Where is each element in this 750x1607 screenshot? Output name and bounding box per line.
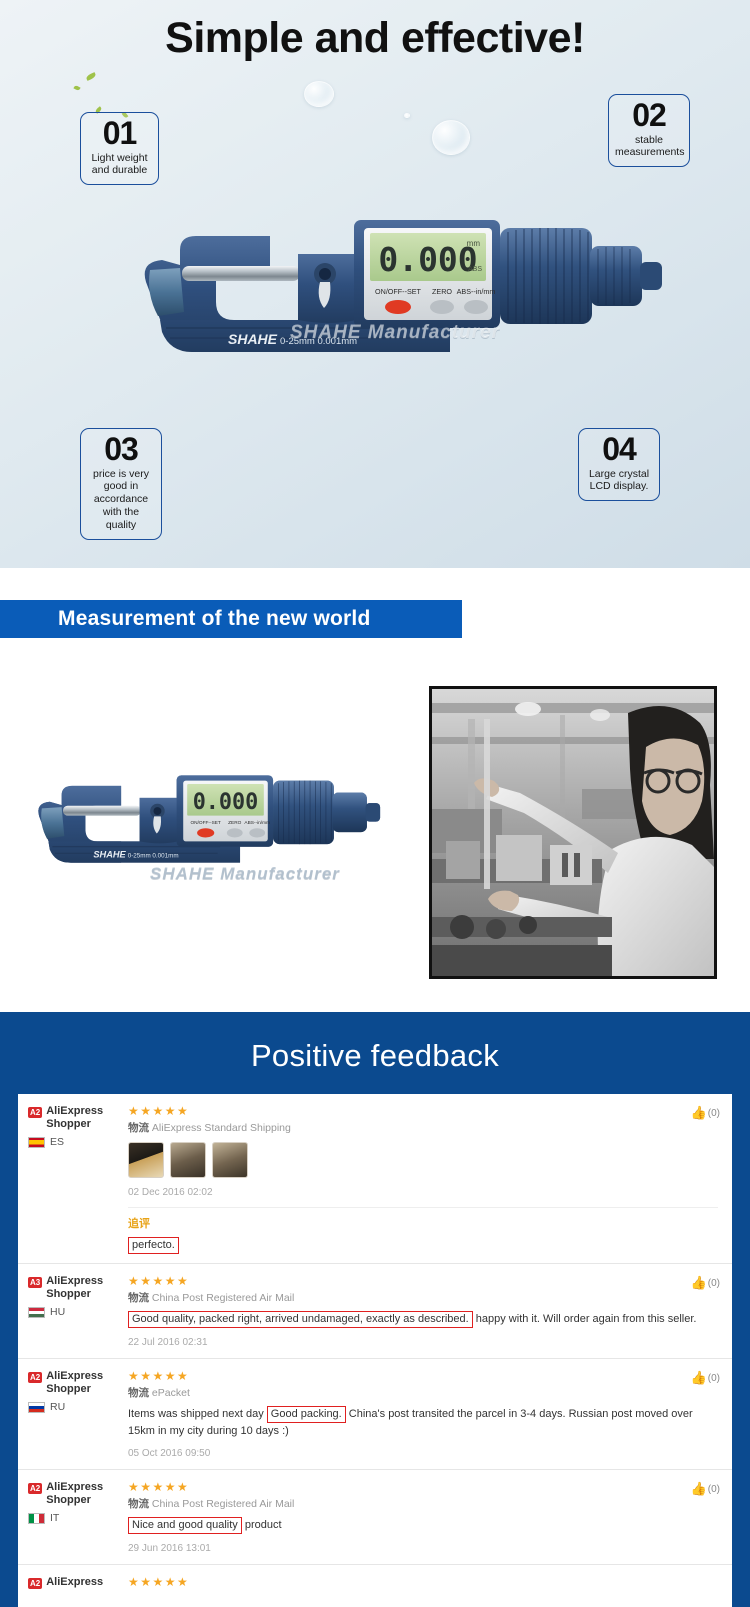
brand-label-small: SHAHE [93,849,126,859]
review-photo-thumbnail[interactable] [128,1142,164,1178]
thumbs-up-icon[interactable]: 👍 [691,1481,707,1497]
lcd-unit-label: mm [467,239,481,248]
shipping-label-cn: 物流 [128,1498,149,1510]
water-droplet-icon [304,81,334,107]
review-body: ★★★★★ 物流 AliExpress Standard Shipping 02… [124,1104,718,1254]
review-date: 05 Oct 2016 09:50 [128,1447,718,1460]
country-code: ES [50,1136,64,1148]
country-flag-icon [28,1307,45,1318]
reviewer-info: A3 AliExpress Shopper HU [28,1274,124,1349]
star-rating: ★★★★★ [128,1480,718,1494]
feature-number: 03 [87,433,155,467]
review-text: Nice and good quality product [128,1517,718,1534]
lcd-mode-label: ABS [468,266,482,273]
shipping-label-cn: 物流 [128,1122,149,1134]
thumbs-up-icon[interactable]: 👍 [691,1275,707,1291]
page-title: Simple and effective! [0,14,750,63]
table-row[interactable]: A2 AliExpress ★★★★★ [18,1565,732,1598]
feature-box-03: 03 price is very good in accordance with… [80,428,162,540]
lcd-reading: 0.000 [378,240,477,279]
shipping-label-cn: 物流 [128,1292,149,1304]
reviewer-country: IT [28,1512,124,1524]
shipping-method: 物流 China Post Registered Air Mail [128,1291,718,1305]
button-label-abs-small: ABS--in/mm [244,820,270,826]
feature-caption: price is very good in accordance with th… [87,468,155,532]
micrometer-product-image: 0.000 mm ABS ON/OFF--SET ZERO ABS--in/mm [120,170,680,390]
reviewer-country: RU [28,1401,124,1413]
feature-caption: Large crystal LCD display. [585,468,653,494]
shipping-method: 物流 China Post Registered Air Mail [128,1497,718,1511]
star-rating: ★★★★★ [128,1575,718,1589]
table-row[interactable]: A3 AliExpress Shopper HU ★★★★★ 物流 China … [18,1264,732,1359]
reviewer-identity: A2 AliExpress Shopper [28,1105,124,1131]
button-label-abs-in-mm: ABS--in/mm [457,287,496,296]
star-rating: ★★★★★ [128,1274,718,1288]
helpful-count-value: (0) [708,1108,720,1119]
review-text: Good quality, packed right, arrived unda… [128,1311,718,1328]
reviewer-name: AliExpress Shopper [46,1481,124,1507]
reviewer-country: HU [28,1306,124,1318]
reviewer-name: AliExpress Shopper [46,1275,124,1301]
review-text: perfecto. [128,1237,718,1254]
review-date: 29 Jun 2016 13:01 [128,1542,718,1555]
reviewer-identity: A2 AliExpress [28,1576,124,1589]
reviewer-identity: A2 AliExpress Shopper [28,1481,124,1507]
feature-caption: stable measurements [615,134,683,160]
water-droplet-icon [432,120,470,155]
leaf-decoration-icon [85,72,96,81]
reviewer-level-badge: A2 [28,1483,42,1494]
review-text-tail: product [242,1519,282,1531]
table-row[interactable]: A2 AliExpress Shopper ES ★★★★★ 物流 AliExp… [18,1094,732,1264]
review-body: ★★★★★ 物流 China Post Registered Air Mail … [124,1480,718,1555]
review-body: ★★★★★ 物流 ePacket Items was shipped next … [124,1369,718,1460]
helpful-count[interactable]: 👍 (0) [691,1370,720,1386]
reviewer-info: A2 AliExpress [28,1575,124,1589]
reviewer-level-badge: A2 [28,1372,42,1383]
reviewer-level-badge: A2 [28,1107,42,1118]
leaf-decoration-icon [73,85,80,91]
country-code: HU [50,1306,65,1318]
reviewer-info: A2 AliExpress Shopper IT [28,1480,124,1555]
shipping-name: ePacket [152,1387,190,1399]
power-set-button[interactable] [385,300,411,314]
country-flag-icon [28,1137,45,1148]
button-label-zero: ZERO [432,287,452,296]
feedback-title: Positive feedback [0,1038,750,1074]
button-label-onoff-set: ON/OFF--SET [375,287,422,296]
country-code: RU [50,1401,65,1413]
review-text-head: Items was shipped next day [128,1408,267,1420]
helpful-count-value: (0) [708,1278,720,1289]
feature-box-01: 01 Light weight and durable [80,112,159,185]
feature-box-04: 04 Large crystal LCD display. [578,428,660,501]
reviewer-level-badge: A3 [28,1277,42,1288]
review-list[interactable]: A2 AliExpress Shopper ES ★★★★★ 物流 AliExp… [18,1094,732,1607]
micrometer-product-image-small: 0.000 ON/OFF--SET ZERO ABS--in/mm SHAHE … [22,740,392,890]
star-rating: ★★★★★ [128,1104,718,1118]
thumbs-up-icon[interactable]: 👍 [691,1105,707,1121]
helpful-count-value: (0) [708,1484,720,1495]
shipping-name: AliExpress Standard Shipping [152,1122,291,1134]
reviewer-name: AliExpress [46,1576,103,1589]
helpful-count-value: (0) [708,1373,720,1384]
reviewer-info: A2 AliExpress Shopper RU [28,1369,124,1460]
reviewer-identity: A2 AliExpress Shopper [28,1370,124,1396]
reviewer-name: AliExpress Shopper [46,1370,124,1396]
country-flag-icon [28,1513,45,1524]
star-rating: ★★★★★ [128,1369,718,1383]
table-row[interactable]: A2 AliExpress Shopper IT ★★★★★ 物流 China … [18,1470,732,1565]
additional-review: 追评 perfecto. [128,1207,718,1254]
water-droplet-icon [404,113,410,118]
feedback-section: Positive feedback A2 AliExpress Shopper … [0,1012,750,1607]
shipping-name: China Post Registered Air Mail [152,1292,294,1304]
abs-unit-button-small[interactable] [249,828,265,837]
country-flag-icon [28,1402,45,1413]
shipping-name: China Post Registered Air Mail [152,1498,294,1510]
helpful-count[interactable]: 👍 (0) [691,1105,720,1121]
abs-unit-button[interactable] [464,300,488,314]
country-code: IT [50,1512,59,1524]
review-photos[interactable] [128,1142,718,1178]
shipping-method: 物流 AliExpress Standard Shipping [128,1121,718,1135]
helpful-count[interactable]: 👍 (0) [691,1481,720,1497]
spec-label-small: 0-25mm 0.001mm [128,852,179,859]
shipping-method: 物流 ePacket [128,1386,718,1400]
button-label-zero-small: ZERO [228,820,242,826]
additional-review-label: 追评 [128,1215,718,1231]
shipping-label-cn: 物流 [128,1387,149,1399]
reviewer-level-badge: A2 [28,1578,42,1589]
table-row[interactable]: A2 AliExpress Shopper RU ★★★★★ 物流 ePacke… [18,1359,732,1470]
reviewer-info: A2 AliExpress Shopper ES [28,1104,124,1254]
helpful-count[interactable]: 👍 (0) [691,1275,720,1291]
highlighted-review-text: Good packing. [267,1406,346,1423]
review-date: 22 Jul 2016 02:31 [128,1336,718,1349]
thumbs-up-icon[interactable]: 👍 [691,1370,707,1386]
reviewer-name: AliExpress Shopper [46,1105,124,1131]
review-body: ★★★★★ [124,1575,718,1589]
banner-label: Measurement of the new world [0,600,462,638]
feature-number: 02 [615,99,683,133]
brand-label: SHAHE [228,331,278,347]
feature-caption: Light weight and durable [87,152,152,178]
highlighted-review-text: perfecto. [128,1237,179,1254]
section-banner: Measurement of the new world [0,600,462,638]
factory-photo [429,686,717,979]
feature-box-02: 02 stable measurements [608,94,690,167]
zero-button-small[interactable] [227,828,243,837]
review-text: Items was shipped next day Good packing.… [128,1406,718,1439]
spec-label: 0-25mm 0.001mm [280,336,357,347]
power-set-button-small[interactable] [197,828,214,837]
reviewer-identity: A3 AliExpress Shopper [28,1275,124,1301]
feature-number: 04 [585,433,653,467]
reviewer-country: ES [28,1136,124,1148]
review-body: ★★★★★ 物流 China Post Registered Air Mail … [124,1274,718,1349]
feature-number: 01 [87,117,152,151]
zero-button[interactable] [430,300,454,314]
highlighted-review-text: Nice and good quality [128,1517,242,1534]
review-photo-thumbnail[interactable] [212,1142,248,1178]
highlighted-review-text: Good quality, packed right, arrived unda… [128,1311,473,1328]
factory-photo-graphic [432,689,714,976]
lcd-reading-small: 0.000 [193,790,259,815]
review-date: 02 Dec 2016 02:02 [128,1186,718,1199]
hero-section: Simple and effective! [0,0,750,568]
button-label-onoff-set-small: ON/OFF--SET [190,820,220,826]
review-text-tail: happy with it. Will order again from thi… [473,1313,697,1325]
review-photo-thumbnail[interactable] [170,1142,206,1178]
